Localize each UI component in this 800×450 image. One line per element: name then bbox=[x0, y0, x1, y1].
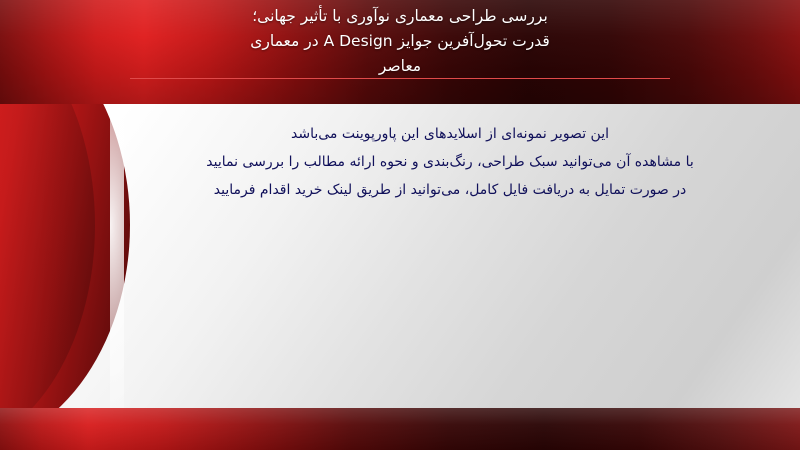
slide-body-line-3: در صورت تمایل به دریافت فایل کامل، می‌تو… bbox=[120, 176, 780, 204]
presentation-slide: بررسی طراحی معماری نوآوری با تأثیر جهانی… bbox=[0, 0, 800, 450]
slide-body-text: این تصویر نمونه‌ای از اسلایدهای این پاور… bbox=[120, 120, 780, 204]
slide-body-line-2: با مشاهده آن می‌توانید سبک طراحی، رنگ‌بن… bbox=[120, 148, 780, 176]
slide-title-line-2: قدرت تحول‌آفرین جوایز A Design در معماری bbox=[0, 29, 800, 54]
slide-body-line-1: این تصویر نمونه‌ای از اسلایدهای این پاور… bbox=[120, 120, 780, 148]
bottom-red-band-sheen bbox=[0, 408, 800, 450]
slide-title-line-1: بررسی طراحی معماری نوآوری با تأثیر جهانی… bbox=[0, 4, 800, 29]
slide-title-line-3: معاصر bbox=[0, 54, 800, 79]
title-divider-rule bbox=[130, 78, 670, 79]
slide-title: بررسی طراحی معماری نوآوری با تأثیر جهانی… bbox=[0, 4, 800, 79]
